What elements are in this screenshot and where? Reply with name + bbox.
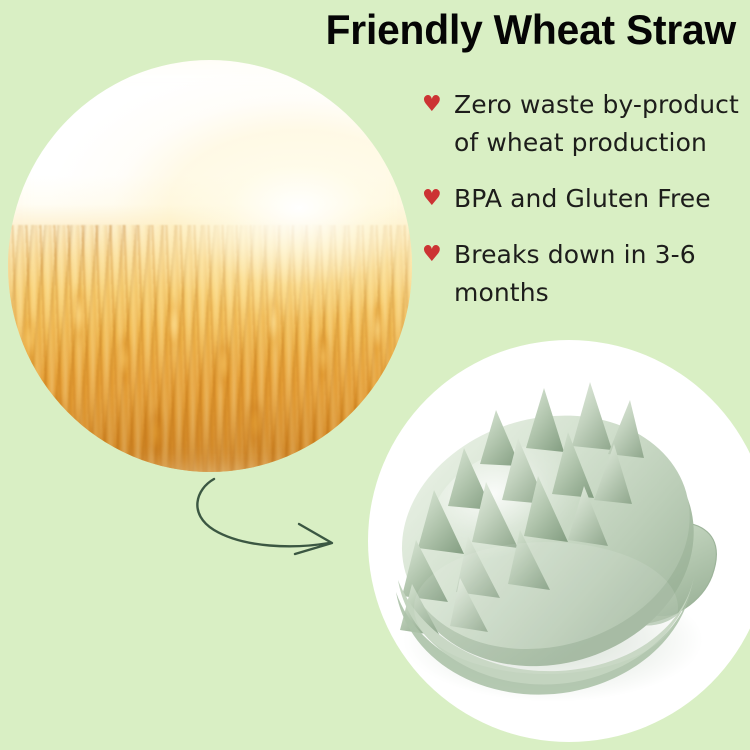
list-item: ♥ BPA and Gluten Free (422, 180, 740, 218)
list-item-label: Zero waste by-product of wheat productio… (454, 86, 740, 162)
wheat-vignette (8, 60, 412, 472)
scalp-massager-illustration (368, 340, 750, 742)
heart-icon: ♥ (422, 244, 448, 266)
list-item-label: BPA and Gluten Free (454, 180, 711, 218)
product-infographic-poster: Friendly Wheat Straw ♥ Zero waste by-pro… (0, 0, 750, 750)
wheat-field-photo (8, 60, 412, 472)
heart-icon: ♥ (422, 94, 448, 116)
curved-arrow (170, 462, 360, 567)
page-title: Friendly Wheat Straw (22, 6, 736, 54)
heart-icon: ♥ (422, 188, 448, 210)
scalp-massager-photo (368, 340, 750, 742)
feature-list: ♥ Zero waste by-product of wheat product… (422, 86, 740, 330)
list-item: ♥ Breaks down in 3-6 months (422, 236, 740, 312)
list-item: ♥ Zero waste by-product of wheat product… (422, 86, 740, 162)
list-item-label: Breaks down in 3-6 months (454, 236, 740, 312)
